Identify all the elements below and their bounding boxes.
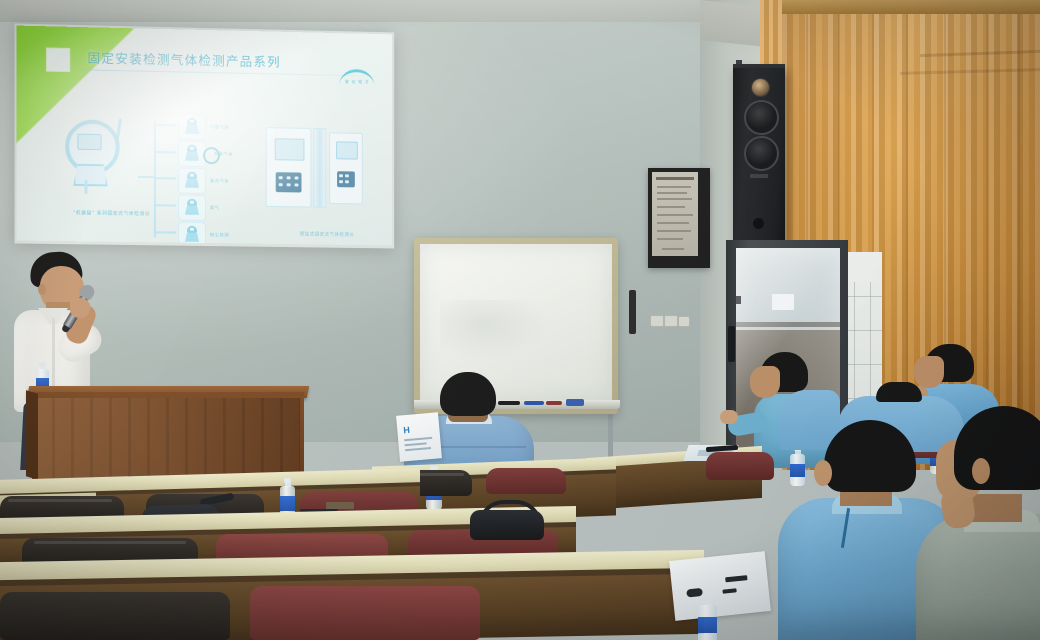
notebook[interactable] — [326, 502, 354, 509]
woofer-driver-lower — [744, 136, 779, 171]
attendee-ear — [814, 460, 832, 486]
attendee-hair — [954, 406, 1040, 490]
whiteboard-smudge — [440, 300, 550, 360]
shoulder-bag[interactable] — [470, 510, 544, 540]
marker-red[interactable] — [546, 401, 562, 405]
wall-socket[interactable] — [664, 315, 678, 327]
water-bottle[interactable] — [698, 596, 717, 640]
conference-room-scene: 固定安装检测气体检测产品系列 安 仪 电 子 可燃气体 — [0, 0, 1040, 640]
podium-side-panel — [26, 390, 38, 479]
attendee-hand — [720, 410, 738, 424]
handout-logo: H — [403, 425, 410, 436]
notice-line — [657, 238, 683, 240]
papers-foreground[interactable] — [669, 551, 771, 621]
attendee-face — [750, 366, 780, 398]
chair-back[interactable] — [706, 452, 774, 480]
whiteboard-side-clip — [629, 290, 636, 334]
projection-screen: 固定安装检测气体检测产品系列 安 仪 电 子 可燃气体 — [17, 26, 393, 246]
notice-line — [657, 230, 691, 232]
chair-back[interactable] — [0, 592, 230, 640]
woofer-driver-upper — [744, 100, 779, 135]
attendee-foreground-right — [930, 406, 1040, 640]
attendee-neck — [966, 494, 1022, 522]
notice-line — [657, 192, 687, 194]
notice-line — [662, 248, 684, 250]
door-hinge — [736, 296, 741, 304]
attendee-hair — [440, 372, 496, 416]
notice-line — [657, 198, 692, 200]
tweeter-driver — [751, 78, 770, 97]
notice-line — [657, 206, 685, 208]
attendee-ear — [972, 458, 990, 484]
notice-line — [657, 222, 689, 224]
notice-heading — [656, 177, 694, 180]
projector-hotspot — [17, 26, 393, 246]
chair-highlight — [8, 499, 112, 502]
presenter-ear — [38, 284, 46, 295]
wall-socket[interactable] — [678, 316, 690, 327]
printed-handout[interactable]: H — [396, 412, 442, 461]
wall-socket[interactable] — [650, 315, 664, 327]
attendee-hair — [824, 420, 916, 492]
notice-line — [657, 186, 691, 188]
door-handle[interactable] — [728, 326, 735, 362]
attendee-hair — [876, 382, 922, 402]
chair-back[interactable] — [250, 586, 480, 640]
curtain-rod — [782, 0, 1040, 14]
chair-back[interactable] — [486, 468, 566, 494]
podium-highlight — [36, 398, 300, 480]
chair-highlight — [34, 541, 186, 544]
speaker-badge — [750, 174, 768, 178]
whiteboard-eraser[interactable] — [566, 399, 584, 406]
bass-port — [753, 218, 764, 229]
attendee-torso — [916, 514, 1040, 640]
notice-line — [657, 214, 693, 216]
